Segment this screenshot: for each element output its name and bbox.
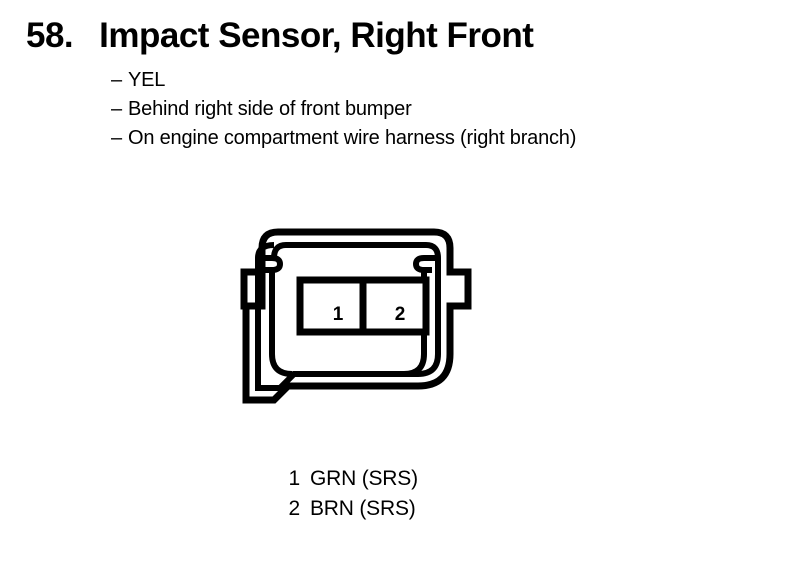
- list-item-label: YEL: [128, 69, 165, 91]
- legend-row: 1 GRN (SRS): [283, 464, 418, 494]
- dash-icon: –: [111, 66, 128, 95]
- dash-icon: –: [111, 95, 128, 124]
- connector-right-latch-hook: [416, 258, 438, 270]
- connector-diagram: 1 2: [228, 214, 484, 410]
- legend-wire-label: GRN (SRS): [310, 464, 418, 494]
- connector-outline-svg: [228, 214, 484, 410]
- description-bullet-list: –YEL –Behind right side of front bumper …: [111, 66, 786, 153]
- pin-legend: 1 GRN (SRS) 2 BRN (SRS): [283, 464, 418, 524]
- list-item: –Behind right side of front bumper: [111, 95, 786, 124]
- list-item: –On engine compartment wire harness (rig…: [111, 124, 786, 153]
- dash-icon: –: [111, 124, 128, 153]
- page-title: 58. Impact Sensor, Right Front: [26, 18, 786, 53]
- legend-wire-label: BRN (SRS): [310, 494, 416, 524]
- legend-pin-number: 2: [283, 494, 300, 524]
- page-canvas: 58. Impact Sensor, Right Front –YEL –Beh…: [0, 0, 800, 580]
- cavity-number-1: 1: [324, 305, 352, 324]
- header-block: 58. Impact Sensor, Right Front –YEL –Beh…: [26, 18, 786, 153]
- connector-left-inner-post: [272, 270, 292, 374]
- legend-pin-number: 1: [283, 464, 300, 494]
- cavity-number-2: 2: [386, 305, 414, 324]
- list-item-label: Behind right side of front bumper: [128, 98, 412, 120]
- item-number: 58.: [26, 18, 73, 53]
- list-item: –YEL: [111, 66, 786, 95]
- legend-row: 2 BRN (SRS): [283, 494, 418, 524]
- list-item-label: On engine compartment wire harness (righ…: [128, 127, 576, 149]
- item-title: Impact Sensor, Right Front: [99, 18, 533, 53]
